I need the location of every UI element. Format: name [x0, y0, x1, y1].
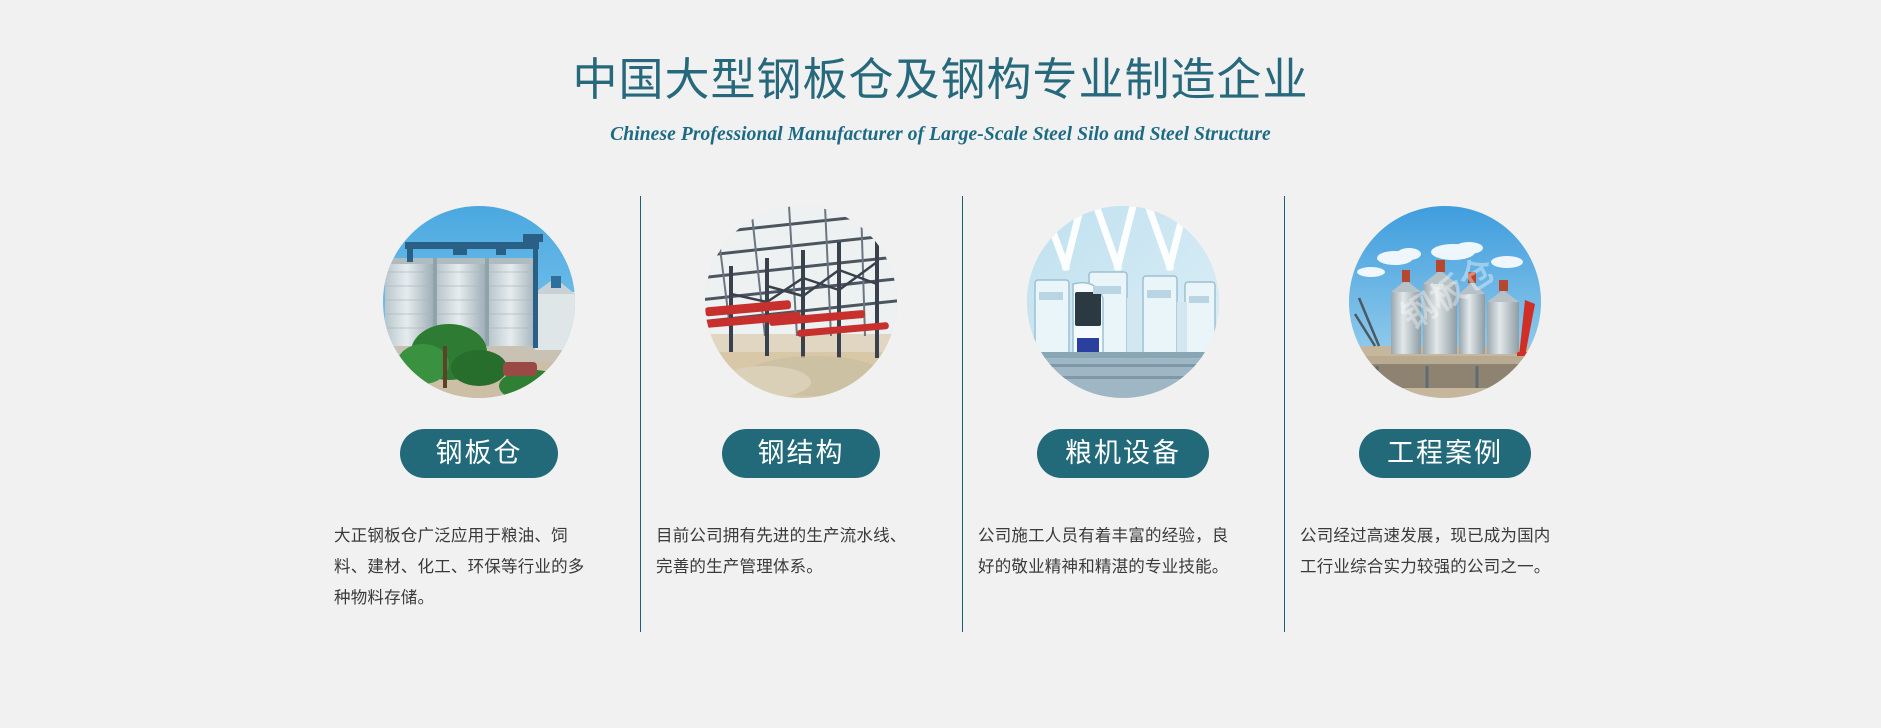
steel-silo-photo — [383, 206, 575, 398]
feature-description-steel-silo: 大正钢板仓广泛应用于粮油、饲料、建材、化工、环保等行业的多种物料存储。 — [334, 521, 596, 614]
pill-button-project-case[interactable]: 工程案例 — [1359, 429, 1531, 478]
promo-banner: 中国大型钢板仓及钢构专业制造企业 Chinese Professional Ma… — [0, 0, 1881, 728]
pill-button-steel-silo[interactable]: 钢板仓 — [400, 429, 558, 478]
feature-column-steel-silo: 钢板仓 大正钢板仓广泛应用于粮油、饲料、建材、化工、环保等行业的多种物料存储。 — [318, 206, 640, 614]
feature-description-project-case: 公司经过高速发展，现已成为国内工行业综合实力较强的公司之一。 — [1300, 521, 1562, 583]
feature-description-steel-structure: 目前公司拥有先进的生产流水线、完善的生产管理体系。 — [656, 521, 918, 583]
feature-column-steel-structure: 钢结构 目前公司拥有先进的生产流水线、完善的生产管理体系。 — [640, 206, 962, 614]
feature-column-grain-machinery: 粮机设备 公司施工人员有着丰富的经验，良好的敬业精神和精湛的专业技能。 — [962, 206, 1284, 614]
page-subtitle: Chinese Professional Manufacturer of Lar… — [0, 122, 1881, 148]
steel-structure-photo — [705, 206, 897, 398]
feature-description-grain-machinery: 公司施工人员有着丰富的经验，良好的敬业精神和精湛的专业技能。 — [978, 521, 1240, 583]
feature-column-project-case: 钢板仓 工程案例 公司经过高速发展，现已成为国内工行业综合实力较强的公司之一。 — [1284, 206, 1606, 614]
page-title: 中国大型钢板仓及钢构专业制造企业 — [0, 52, 1881, 108]
grain-machinery-photo — [1027, 206, 1219, 398]
feature-columns: 钢板仓 大正钢板仓广泛应用于粮油、饲料、建材、化工、环保等行业的多种物料存储。 — [318, 206, 1608, 614]
project-case-photo: 钢板仓 — [1349, 206, 1541, 398]
pill-button-steel-structure[interactable]: 钢结构 — [722, 429, 880, 478]
header: 中国大型钢板仓及钢构专业制造企业 Chinese Professional Ma… — [0, 0, 1881, 148]
pill-button-grain-machinery[interactable]: 粮机设备 — [1037, 429, 1209, 478]
